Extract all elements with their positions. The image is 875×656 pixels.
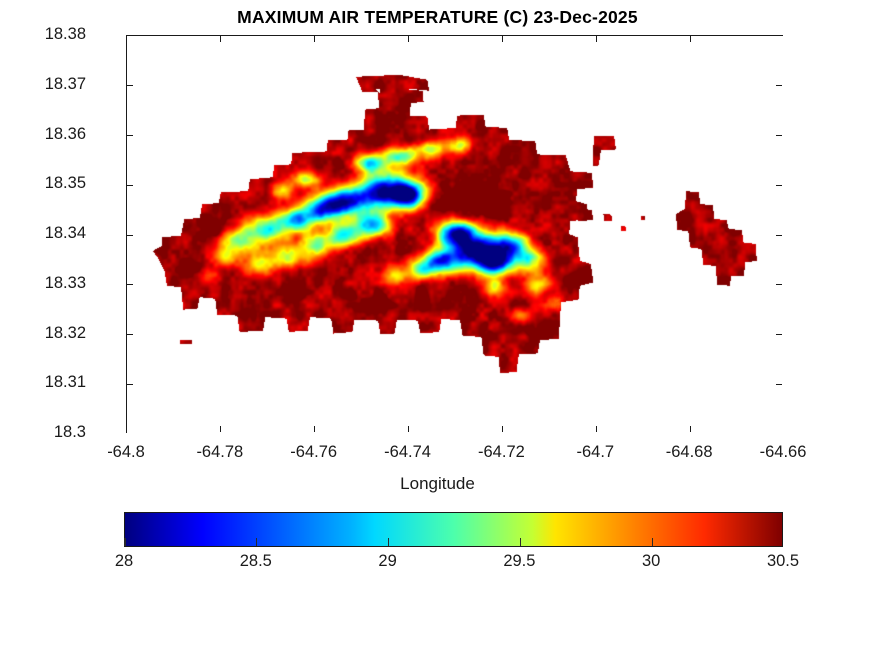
colorbar-tick-label: 29 (338, 553, 438, 570)
x-tick (314, 426, 315, 432)
x-tick (408, 426, 409, 432)
y-tick-label: 18.36 (0, 126, 86, 143)
colorbar-tick (652, 538, 653, 546)
x-tick (596, 426, 597, 432)
x-tick-top (502, 36, 503, 42)
colorbar-tick (124, 538, 125, 546)
x-tick-top (596, 36, 597, 42)
y-tick (127, 334, 133, 335)
x-tick-label: -64.66 (723, 444, 843, 461)
colorbar-tick (520, 538, 521, 546)
y-tick-label: 18.35 (0, 175, 86, 192)
y-tick (127, 185, 133, 186)
y-tick (127, 284, 133, 285)
x-tick-top (408, 36, 409, 42)
y-tick-right (776, 185, 782, 186)
y-tick (127, 384, 133, 385)
y-tick-label: 18.32 (0, 325, 86, 342)
colorbar-tick-label: 30.5 (733, 553, 833, 570)
y-tick (127, 85, 133, 86)
y-tick-right (776, 135, 782, 136)
y-tick-label: 18.38 (0, 26, 86, 43)
y-tick (127, 135, 133, 136)
x-tick-top (220, 36, 221, 42)
y-tick (127, 235, 133, 236)
colorbar-gradient (125, 513, 782, 546)
y-tick-label: 18.37 (0, 76, 86, 93)
temperature-heatmap (127, 36, 784, 434)
x-tick-top (314, 36, 315, 42)
figure-root: MAXIMUM AIR TEMPERATURE (C) 23-Dec-2025 … (0, 0, 875, 656)
y-tick-right (776, 284, 782, 285)
colorbar-tick-label: 29.5 (469, 553, 569, 570)
y-tick-label: 18.31 (0, 374, 86, 391)
page-title: MAXIMUM AIR TEMPERATURE (C) 23-Dec-2025 (0, 7, 875, 28)
colorbar-tick-label: 28.5 (206, 553, 306, 570)
y-tick-label: 18.34 (0, 225, 86, 242)
x-tick (502, 426, 503, 432)
y-tick-right (776, 85, 782, 86)
colorbar-tick-label: 28 (74, 553, 174, 570)
y-tick-right (776, 384, 782, 385)
y-tick-right (776, 334, 782, 335)
x-tick (690, 426, 691, 432)
y-tick-label: 18.3 (0, 424, 86, 441)
colorbar-tick (256, 538, 257, 546)
colorbar-tick (388, 538, 389, 546)
colorbar (124, 512, 783, 547)
x-tick-top (690, 36, 691, 42)
x-axis-label: Longitude (0, 474, 875, 494)
map-axes (126, 35, 783, 433)
y-tick-label: 18.33 (0, 275, 86, 292)
x-tick (220, 426, 221, 432)
y-tick-right (776, 235, 782, 236)
colorbar-tick-label: 30 (601, 553, 701, 570)
